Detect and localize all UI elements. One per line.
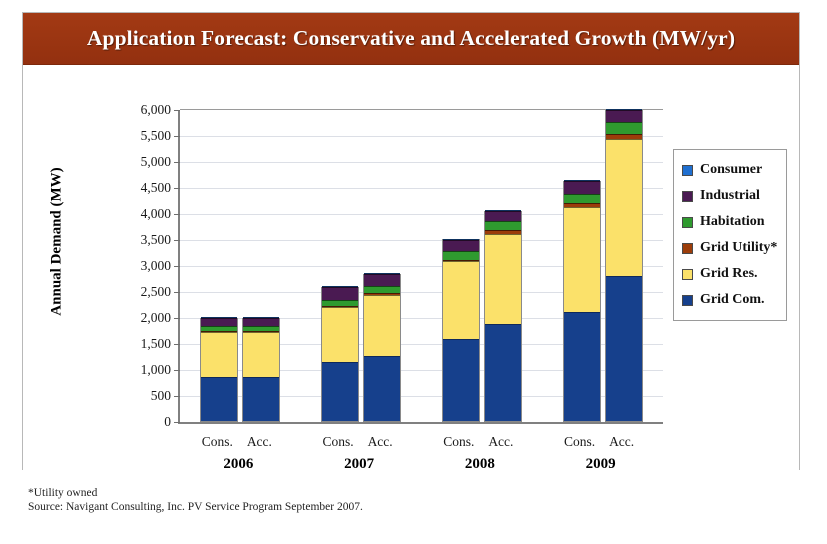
- screenshot-root: Application Forecast: Conservative and A…: [0, 0, 827, 544]
- legend-item-label: Grid Res.: [700, 266, 758, 282]
- y-axis-tick-label: 2,500: [141, 284, 171, 300]
- legend-swatch-icon: [682, 165, 693, 176]
- legend-item-label: Habitation: [700, 214, 765, 230]
- stacked-bar: [484, 211, 522, 422]
- x-axis-year-label: 2006: [178, 456, 299, 473]
- stacked-bar: [321, 287, 359, 422]
- stacked-bar: [200, 318, 238, 422]
- legend-swatch-icon: [682, 243, 693, 254]
- legend-swatch-icon: [682, 269, 693, 280]
- bar-segment: [243, 318, 279, 327]
- y-axis-title: Annual Demand (MW): [49, 142, 66, 342]
- bar-segment: [564, 203, 600, 207]
- footnote-source: Source: Navigant Consulting, Inc. PV Ser…: [28, 500, 628, 514]
- bar-segment: [606, 139, 642, 276]
- bar-segment: [322, 307, 358, 362]
- stacked-bar: [363, 274, 401, 422]
- y-axis-tick-label: 5,000: [141, 154, 171, 170]
- bar-segment: [443, 251, 479, 259]
- bar-segment: [201, 318, 237, 327]
- legend-item[interactable]: Consumer: [682, 157, 780, 183]
- legend-item[interactable]: Grid Res.: [682, 261, 780, 287]
- x-axis-year-label: 2007: [299, 456, 420, 473]
- legend-item[interactable]: Industrial: [682, 183, 780, 209]
- x-axis-year-label: 2008: [420, 456, 541, 473]
- bar-segment: [564, 181, 600, 193]
- bar-segment: [564, 312, 600, 421]
- y-axis-tick-label: 4,500: [141, 180, 171, 196]
- chart-legend: ConsumerIndustrialHabitationGrid Utility…: [673, 149, 787, 321]
- page-title: Application Forecast: Conservative and A…: [87, 26, 735, 51]
- legend-swatch-icon: [682, 217, 693, 228]
- y-axis-tick-label: 5,500: [141, 128, 171, 144]
- legend-item-label: Grid Utility*: [700, 240, 777, 256]
- y-axis-tick: [174, 422, 180, 423]
- bar-segment: [443, 261, 479, 339]
- y-axis-tick-label: 6,000: [141, 102, 171, 118]
- bar-segment: [443, 339, 479, 421]
- legend-swatch-icon: [682, 191, 693, 202]
- bar-segment: [364, 274, 400, 286]
- bar-segment: [606, 134, 642, 139]
- bar-segment: [201, 377, 237, 421]
- bar-segment: [201, 332, 237, 377]
- bar-segment: [485, 211, 521, 221]
- bar-segment: [606, 276, 642, 421]
- bar-segment: [485, 324, 521, 421]
- bar-segment: [606, 122, 642, 134]
- stacked-bar: [242, 318, 280, 422]
- legend-item[interactable]: Grid Utility*: [682, 235, 780, 261]
- stacked-bar: [563, 181, 601, 422]
- stacked-bar: [605, 110, 643, 422]
- y-axis-tick-label: 3,500: [141, 232, 171, 248]
- plot-area: 05001,0001,5002,0002,5003,0003,5004,0004…: [178, 110, 663, 424]
- y-axis-tick-label: 1,500: [141, 336, 171, 352]
- bar-segment: [606, 110, 642, 122]
- bar-segment: [485, 210, 521, 211]
- y-axis-tick-label: 4,000: [141, 206, 171, 222]
- legend-item-label: Consumer: [700, 162, 762, 178]
- bar-segment: [364, 286, 400, 293]
- y-axis-tick-label: 1,000: [141, 362, 171, 378]
- bar-segment: [564, 194, 600, 204]
- x-axis-scenario-label: Acc.: [234, 434, 284, 450]
- bar-segment: [564, 180, 600, 181]
- x-axis-year-label: 2009: [540, 456, 661, 473]
- bar-segment: [243, 377, 279, 421]
- bar-segment: [243, 332, 279, 377]
- bar-series-container: [180, 110, 663, 422]
- legend-item-label: Industrial: [700, 188, 760, 204]
- x-axis-scenario-label: Acc.: [476, 434, 526, 450]
- bar-segment: [485, 221, 521, 231]
- bar-segment: [606, 109, 642, 110]
- footnotes: *Utility owned Source: Navigant Consulti…: [28, 486, 628, 514]
- bar-segment: [485, 230, 521, 234]
- stacked-bar: [442, 239, 480, 422]
- footnote-utility-owned: *Utility owned: [28, 486, 628, 500]
- legend-item[interactable]: Grid Com.: [682, 287, 780, 313]
- x-axis-scenario-label: Acc.: [355, 434, 405, 450]
- bar-segment: [322, 362, 358, 421]
- bar-segment: [201, 317, 237, 318]
- bar-segment: [243, 326, 279, 330]
- bar-segment: [322, 286, 358, 287]
- legend-item-label: Grid Com.: [700, 292, 765, 308]
- bar-segment: [201, 326, 237, 330]
- bar-segment: [322, 287, 358, 300]
- bar-segment: [243, 331, 279, 332]
- legend-item[interactable]: Habitation: [682, 209, 780, 235]
- y-axis-tick-label: 0: [164, 414, 171, 430]
- bar-segment: [364, 273, 400, 274]
- chart-card: Application Forecast: Conservative and A…: [22, 12, 800, 470]
- chart-area: Annual Demand (MW) 05001,0001,5002,0002,…: [23, 65, 799, 471]
- bar-segment: [443, 239, 479, 240]
- y-axis-tick-label: 2,000: [141, 310, 171, 326]
- bar-segment: [485, 234, 521, 324]
- chart-title-bar: Application Forecast: Conservative and A…: [23, 13, 799, 65]
- y-axis-tick-label: 3,000: [141, 258, 171, 274]
- bar-segment: [243, 317, 279, 318]
- bar-segment: [322, 300, 358, 306]
- bar-segment: [364, 356, 400, 421]
- bar-segment: [322, 306, 358, 307]
- bar-segment: [201, 331, 237, 332]
- y-axis-tick-label: 500: [151, 388, 171, 404]
- x-axis-scenario-label: Acc.: [597, 434, 647, 450]
- bar-segment: [364, 295, 400, 356]
- bar-segment: [443, 260, 479, 262]
- bar-segment: [443, 240, 479, 252]
- legend-swatch-icon: [682, 295, 693, 306]
- bar-segment: [364, 293, 400, 295]
- bar-segment: [564, 207, 600, 312]
